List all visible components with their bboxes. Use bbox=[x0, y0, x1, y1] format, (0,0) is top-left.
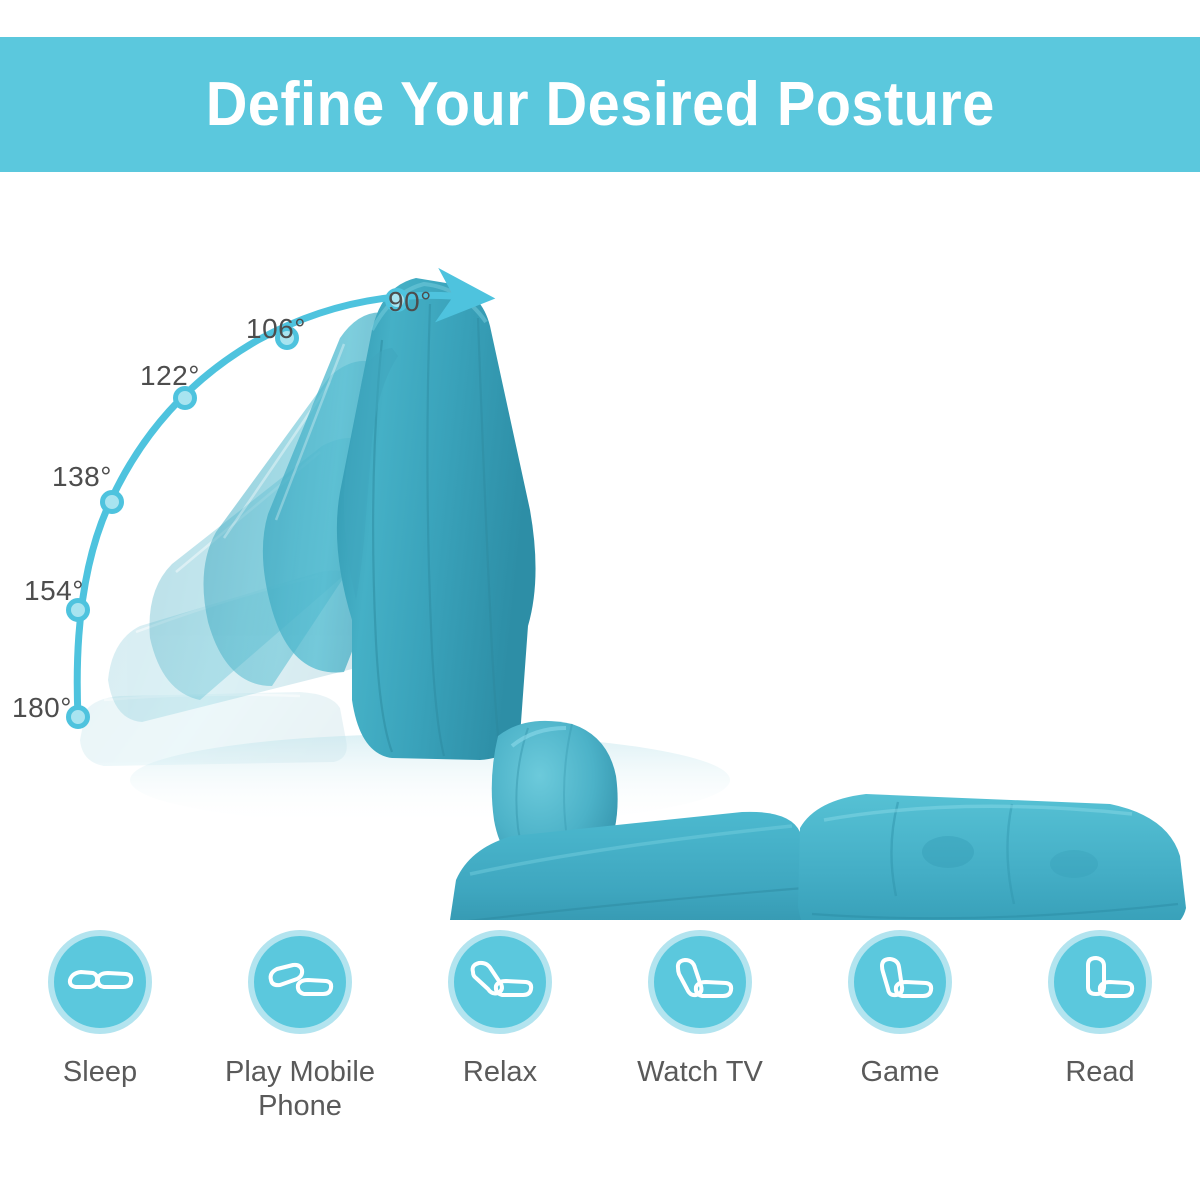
angle-label-180: 180° bbox=[12, 692, 72, 724]
usage-item-relax[interactable]: Relax bbox=[400, 930, 600, 1090]
chair-tilted-icon bbox=[648, 930, 752, 1034]
usage-icon-row: Sleep Play Mobile Phone bbox=[0, 930, 1200, 1190]
usage-item-sleep[interactable]: Sleep bbox=[0, 930, 200, 1090]
footrest-cushion bbox=[798, 794, 1186, 920]
usage-item-play-mobile-phone[interactable]: Play Mobile Phone bbox=[200, 930, 400, 1124]
angle-label-122: 122° bbox=[140, 360, 200, 392]
arc-dot-138 bbox=[103, 493, 122, 512]
usage-label-play-mobile-phone: Play Mobile Phone bbox=[205, 1056, 395, 1124]
angle-label-154: 154° bbox=[24, 575, 84, 607]
infographic-page: Define Your Desired Posture bbox=[0, 0, 1200, 1200]
usage-label-watch-tv: Watch TV bbox=[637, 1056, 763, 1090]
page-title: Define Your Desired Posture bbox=[205, 74, 994, 136]
usage-item-game[interactable]: Game bbox=[800, 930, 1000, 1090]
usage-label-relax: Relax bbox=[463, 1056, 537, 1090]
angle-label-90: 90° bbox=[388, 286, 432, 318]
usage-item-read[interactable]: Read bbox=[1000, 930, 1200, 1090]
chair-upright-icon bbox=[1048, 930, 1152, 1034]
chair-angled-icon bbox=[848, 930, 952, 1034]
angle-label-138: 138° bbox=[52, 461, 112, 493]
usage-label-sleep: Sleep bbox=[63, 1056, 137, 1090]
chair-lounge-icon bbox=[448, 930, 552, 1034]
usage-label-read: Read bbox=[1065, 1056, 1134, 1090]
hero-diagram: 180° 154° 138° 122° 106° 90° bbox=[0, 180, 1200, 920]
chair-reclined-icon bbox=[248, 930, 352, 1034]
header-banner: Define Your Desired Posture bbox=[0, 37, 1200, 172]
chair-flat-icon bbox=[48, 930, 152, 1034]
usage-item-watch-tv[interactable]: Watch TV bbox=[600, 930, 800, 1090]
product-illustration bbox=[0, 180, 1200, 920]
angle-label-106: 106° bbox=[246, 313, 306, 345]
usage-label-game: Game bbox=[861, 1056, 940, 1090]
